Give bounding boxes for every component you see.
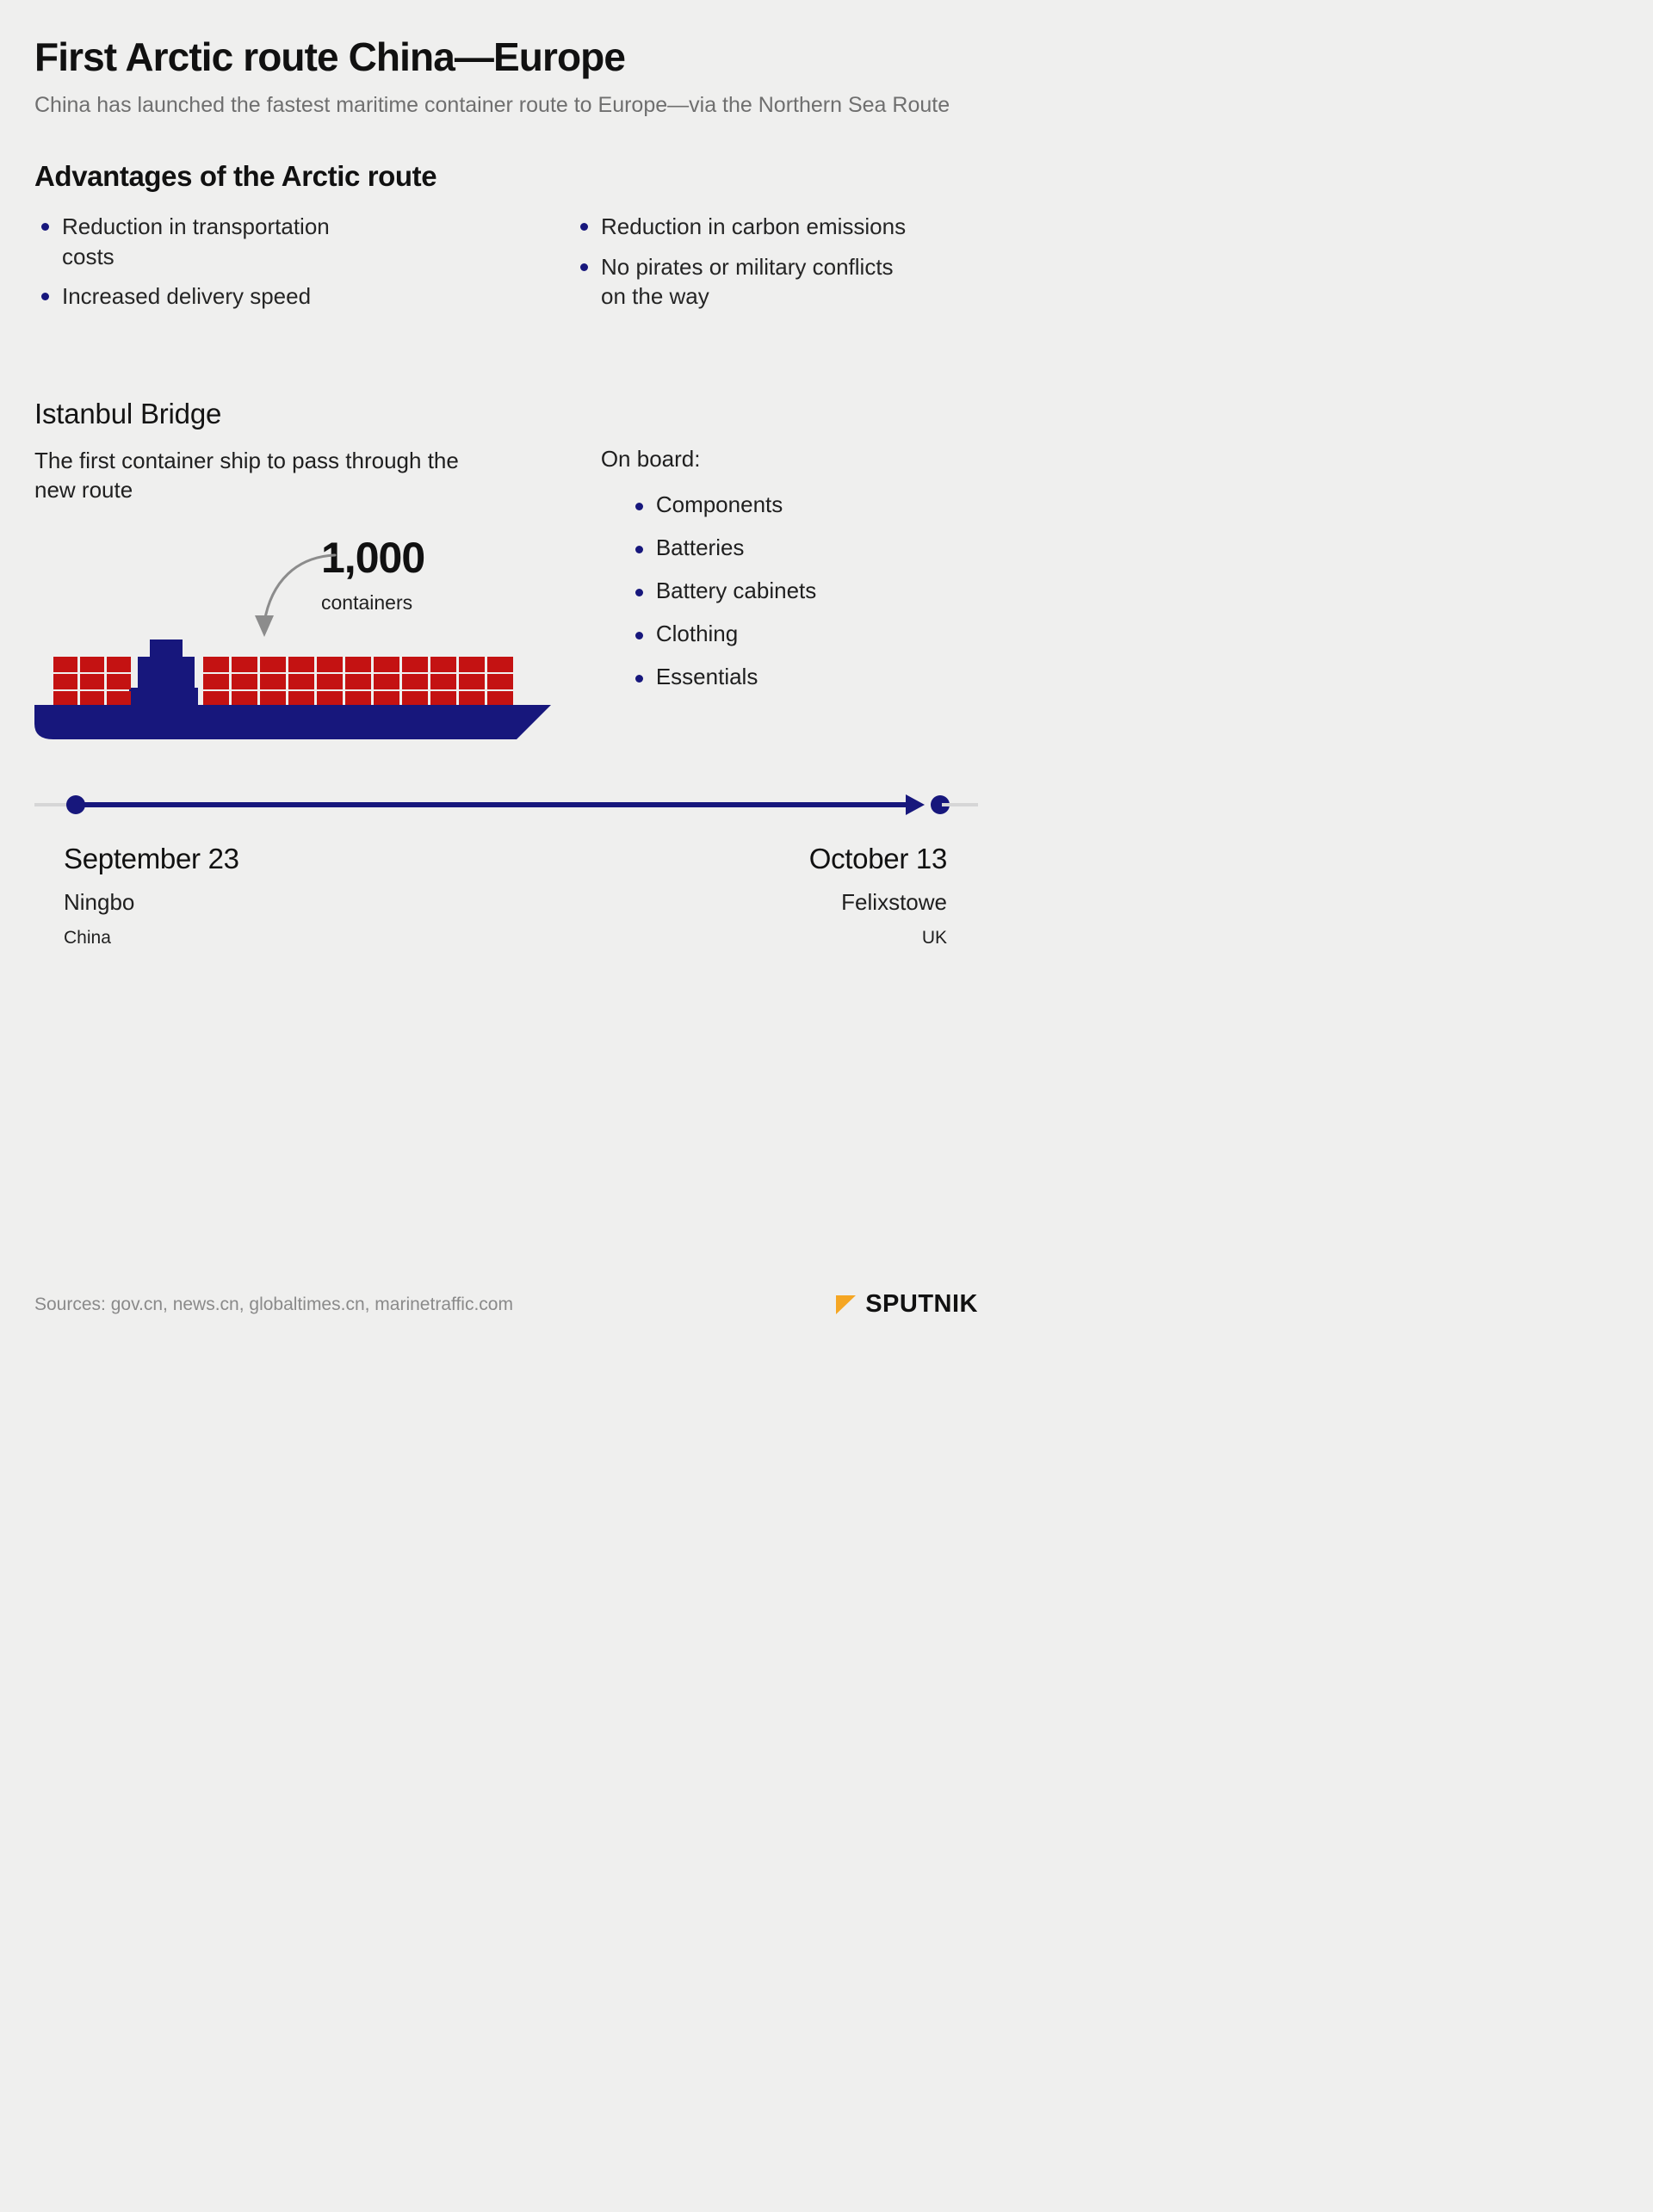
advantages-list-left: Reduction in transportation costs Increa… (34, 212, 506, 312)
advantages-column-left: Reduction in transportation costs Increa… (34, 212, 506, 322)
timeline-end-country: UK (809, 928, 947, 948)
sputnik-logo: SPUTNIK (836, 1290, 978, 1319)
istanbul-bridge-heading: Istanbul Bridge (34, 398, 978, 430)
page-title: First Arctic route China—Europe (34, 36, 978, 77)
list-item: Increased delivery speed (34, 281, 379, 312)
timeline-end-group: October 13 Felixstowe UK (809, 843, 978, 948)
list-item: Components (630, 491, 978, 519)
list-item: Batteries (630, 534, 978, 562)
timeline-labels: September 23 Ningbo China October 13 Fel… (34, 843, 978, 948)
page-subtitle: China has launched the fastest maritime … (34, 91, 956, 119)
timeline-stub-left (34, 803, 71, 806)
onboard-column: On board: Components Batteries Battery c… (544, 446, 978, 762)
timeline-arrow-icon (906, 794, 925, 815)
onboard-list: Components Batteries Battery cabinets Cl… (601, 491, 978, 691)
container-ship-icon (34, 622, 551, 743)
advantages-section: Advantages of the Arctic route Reduction… (0, 160, 1012, 322)
advantages-columns: Reduction in transportation costs Increa… (34, 212, 978, 322)
sputnik-triangle-icon (836, 1295, 856, 1314)
timeline-start-country: China (64, 928, 239, 948)
timeline-end-city: Felixstowe (809, 889, 947, 916)
list-item: Essentials (630, 664, 978, 691)
ship-illustration-area: 1,000 containers (34, 529, 544, 762)
advantages-column-right: Reduction in carbon emissions No pirates… (506, 212, 978, 322)
list-item: No pirates or military conflicts on the … (573, 252, 918, 312)
advantages-list-right: Reduction in carbon emissions No pirates… (573, 212, 978, 312)
sputnik-wordmark: SPUTNIK (865, 1290, 978, 1319)
istanbul-bridge-columns: The first container ship to pass through… (34, 446, 978, 762)
timeline-end-date: October 13 (809, 843, 947, 875)
list-item: Reduction in carbon emissions (573, 212, 918, 242)
onboard-title: On board: (601, 446, 978, 473)
timeline-dot-start (66, 795, 85, 814)
timeline-start-group: September 23 Ningbo China (34, 843, 239, 948)
timeline-line (79, 802, 919, 807)
istanbul-bridge-section: Istanbul Bridge The first container ship… (0, 398, 1012, 762)
list-item: Clothing (630, 621, 978, 648)
header: First Arctic route China—Europe China ha… (0, 0, 1012, 119)
footer: Sources: gov.cn, news.cn, globaltimes.cn… (34, 1290, 978, 1319)
ship-column: The first container ship to pass through… (34, 446, 544, 762)
voyage-timeline: September 23 Ningbo China October 13 Fel… (0, 789, 1012, 948)
timeline-stub-right (942, 803, 978, 806)
timeline-start-city: Ningbo (64, 889, 239, 916)
advantages-heading: Advantages of the Arctic route (34, 160, 978, 193)
timeline-start-date: September 23 (64, 843, 239, 875)
sources-text: Sources: gov.cn, news.cn, globaltimes.cn… (34, 1294, 513, 1315)
list-item: Reduction in transportation costs (34, 212, 379, 271)
infographic-page: First Arctic route China—Europe China ha… (0, 0, 1012, 1351)
timeline-bar (34, 789, 978, 819)
istanbul-bridge-description: The first container ship to pass through… (34, 446, 465, 505)
list-item: Battery cabinets (630, 578, 978, 605)
